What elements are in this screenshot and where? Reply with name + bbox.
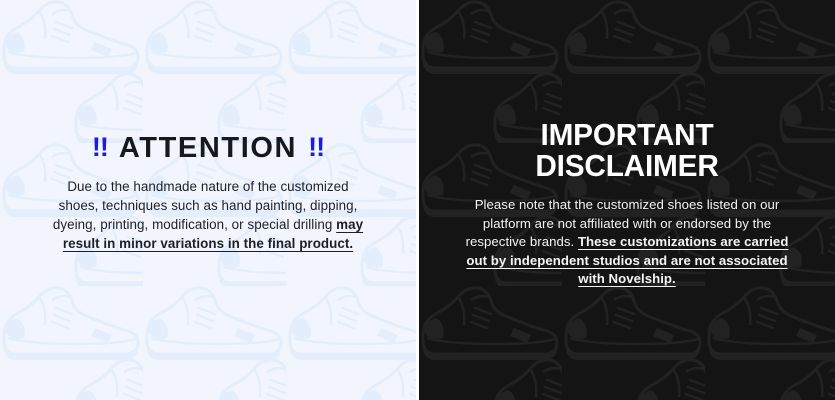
disclaimer-panel: IMPORTANT DISCLAIMER Please note that th…: [419, 0, 835, 400]
bang-right-icon: !!: [308, 133, 324, 161]
disclaimer-content: IMPORTANT DISCLAIMER Please note that th…: [419, 119, 835, 289]
disclaimer-body: Please note that the customized shoes li…: [457, 196, 797, 289]
disclaimer-heading-line1: IMPORTANT: [464, 119, 790, 150]
attention-panel: !!ATTENTION!! Due to the handmade nature…: [0, 0, 416, 400]
attention-body-normal: Due to the handmade nature of the custom…: [53, 179, 357, 232]
disclaimer-heading: IMPORTANT DISCLAIMER: [464, 119, 790, 181]
attention-body: Due to the handmade nature of the custom…: [48, 177, 368, 253]
attention-content: !!ATTENTION!! Due to the handmade nature…: [0, 133, 416, 253]
attention-heading: !!ATTENTION!!: [48, 133, 368, 163]
disclaimer-banner: !!ATTENTION!! Due to the handmade nature…: [0, 0, 835, 400]
bang-left-icon: !!: [92, 133, 108, 161]
disclaimer-heading-line2: DISCLAIMER: [464, 150, 790, 181]
attention-heading-text: ATTENTION: [119, 132, 297, 164]
